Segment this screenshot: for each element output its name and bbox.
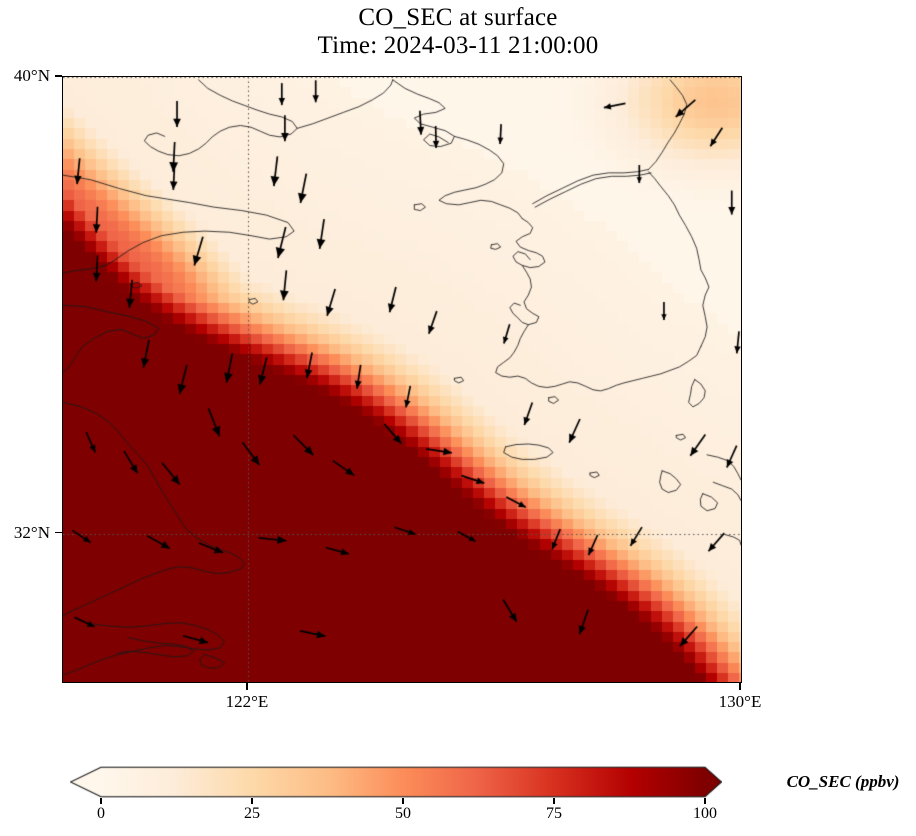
colorbar-tick-layer: 0255075100 xyxy=(0,798,916,828)
colorbar-tick-mark xyxy=(704,798,705,804)
colorbar-tick-label-2: 50 xyxy=(395,805,411,823)
y-tick-label-1: 32°N xyxy=(0,523,50,543)
colorbar-tick-mark xyxy=(402,798,403,804)
figure-subtitle-time: Time: 2024-03-11 21:00:00 xyxy=(0,32,916,60)
page-title: CO_SEC at surface xyxy=(0,4,916,32)
x-tick-mark xyxy=(739,683,741,690)
colorbar-tick-mark xyxy=(100,798,101,804)
colorbar-tick-mark xyxy=(553,798,554,804)
colorbar-tick-label-3: 75 xyxy=(546,805,562,823)
x-tick-mark xyxy=(246,683,248,690)
x-tick-label-0: 122°E xyxy=(226,692,269,712)
y-tick-mark xyxy=(55,532,62,534)
colorbar-tick-label-1: 25 xyxy=(244,805,260,823)
figure-title-block: CO_SEC at surface Time: 2024-03-11 21:00… xyxy=(0,4,916,60)
colorbar[interactable] xyxy=(70,766,722,798)
colorbar-gradient xyxy=(70,766,722,798)
x-tick-label-1: 130°E xyxy=(719,692,762,712)
colorbar-tick-label-0: 0 xyxy=(97,805,105,823)
map-plot-area[interactable] xyxy=(62,76,742,683)
colorbar-tick-label-4: 100 xyxy=(693,805,717,823)
co-sec-heatmap-canvas[interactable] xyxy=(63,77,741,682)
colorbar-label: CO_SEC (ppbv) xyxy=(770,768,916,796)
y-tick-mark xyxy=(55,75,62,77)
colorbar-tick-mark xyxy=(251,798,252,804)
y-tick-label-0: 40°N xyxy=(0,66,50,86)
